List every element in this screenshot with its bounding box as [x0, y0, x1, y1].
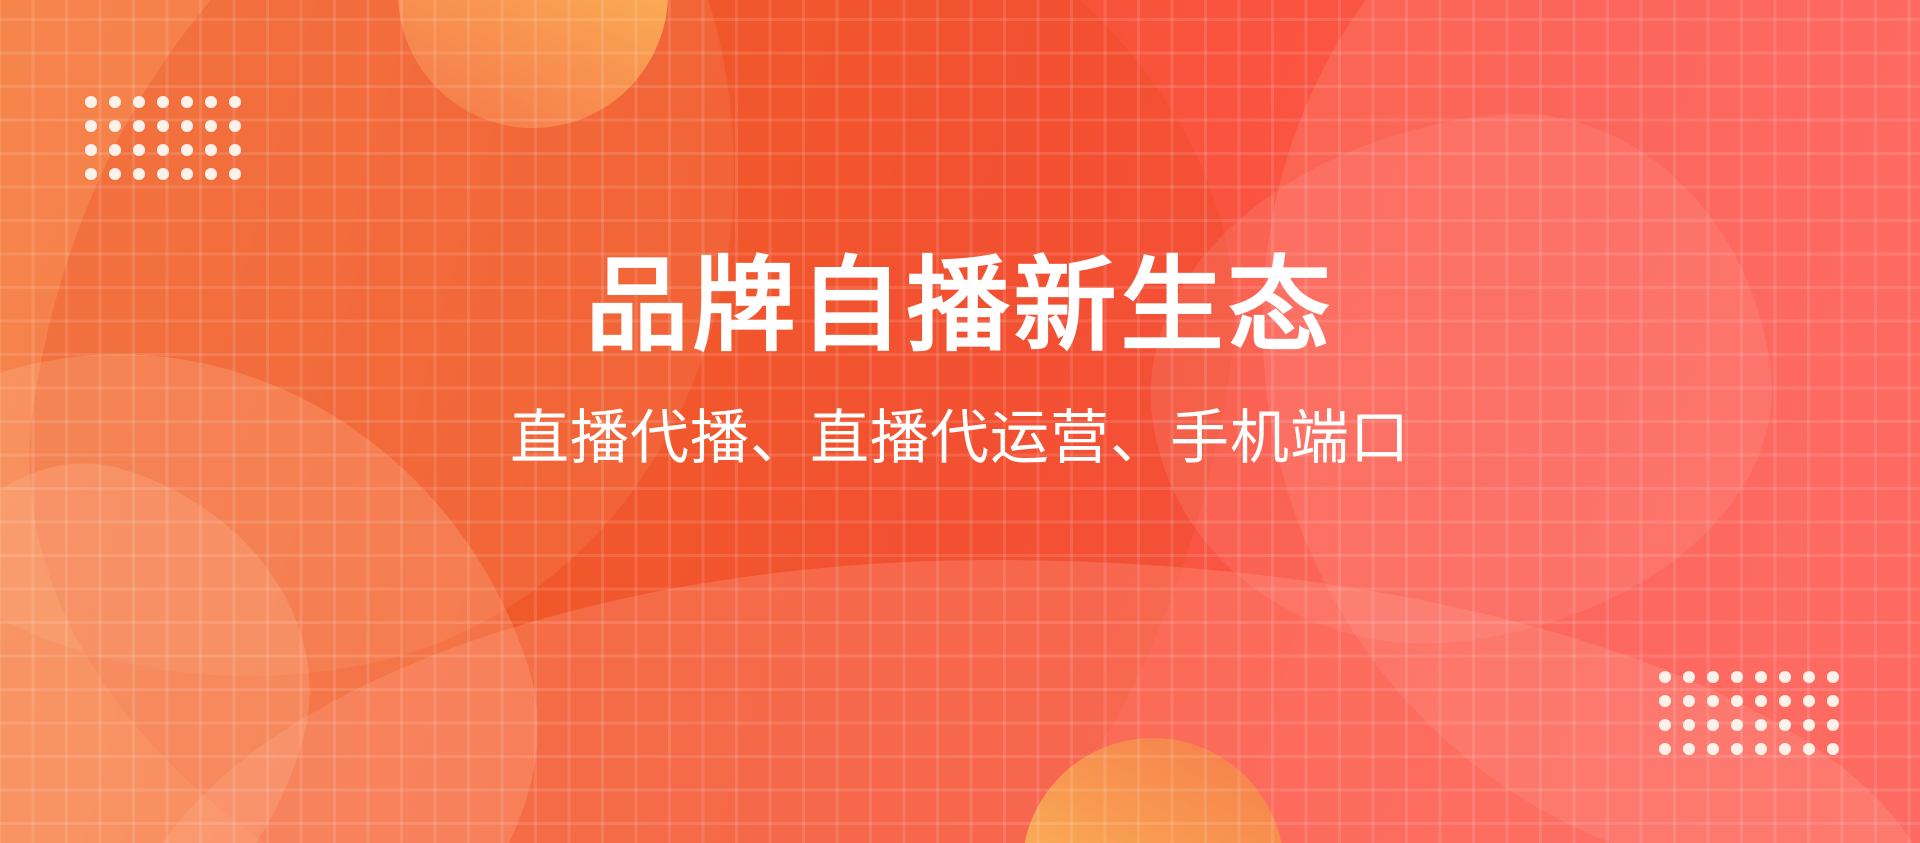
promo-banner: 品牌自播新生态 直播代播、直播代运营、手机端口 — [0, 0, 1920, 843]
banner-headline: 品牌自播新生态 — [586, 249, 1335, 362]
banner-subheadline: 直播代播、直播代运营、手机端口 — [510, 403, 1410, 474]
banner-text-block: 品牌自播新生态 直播代播、直播代运营、手机端口 — [0, 0, 1920, 843]
